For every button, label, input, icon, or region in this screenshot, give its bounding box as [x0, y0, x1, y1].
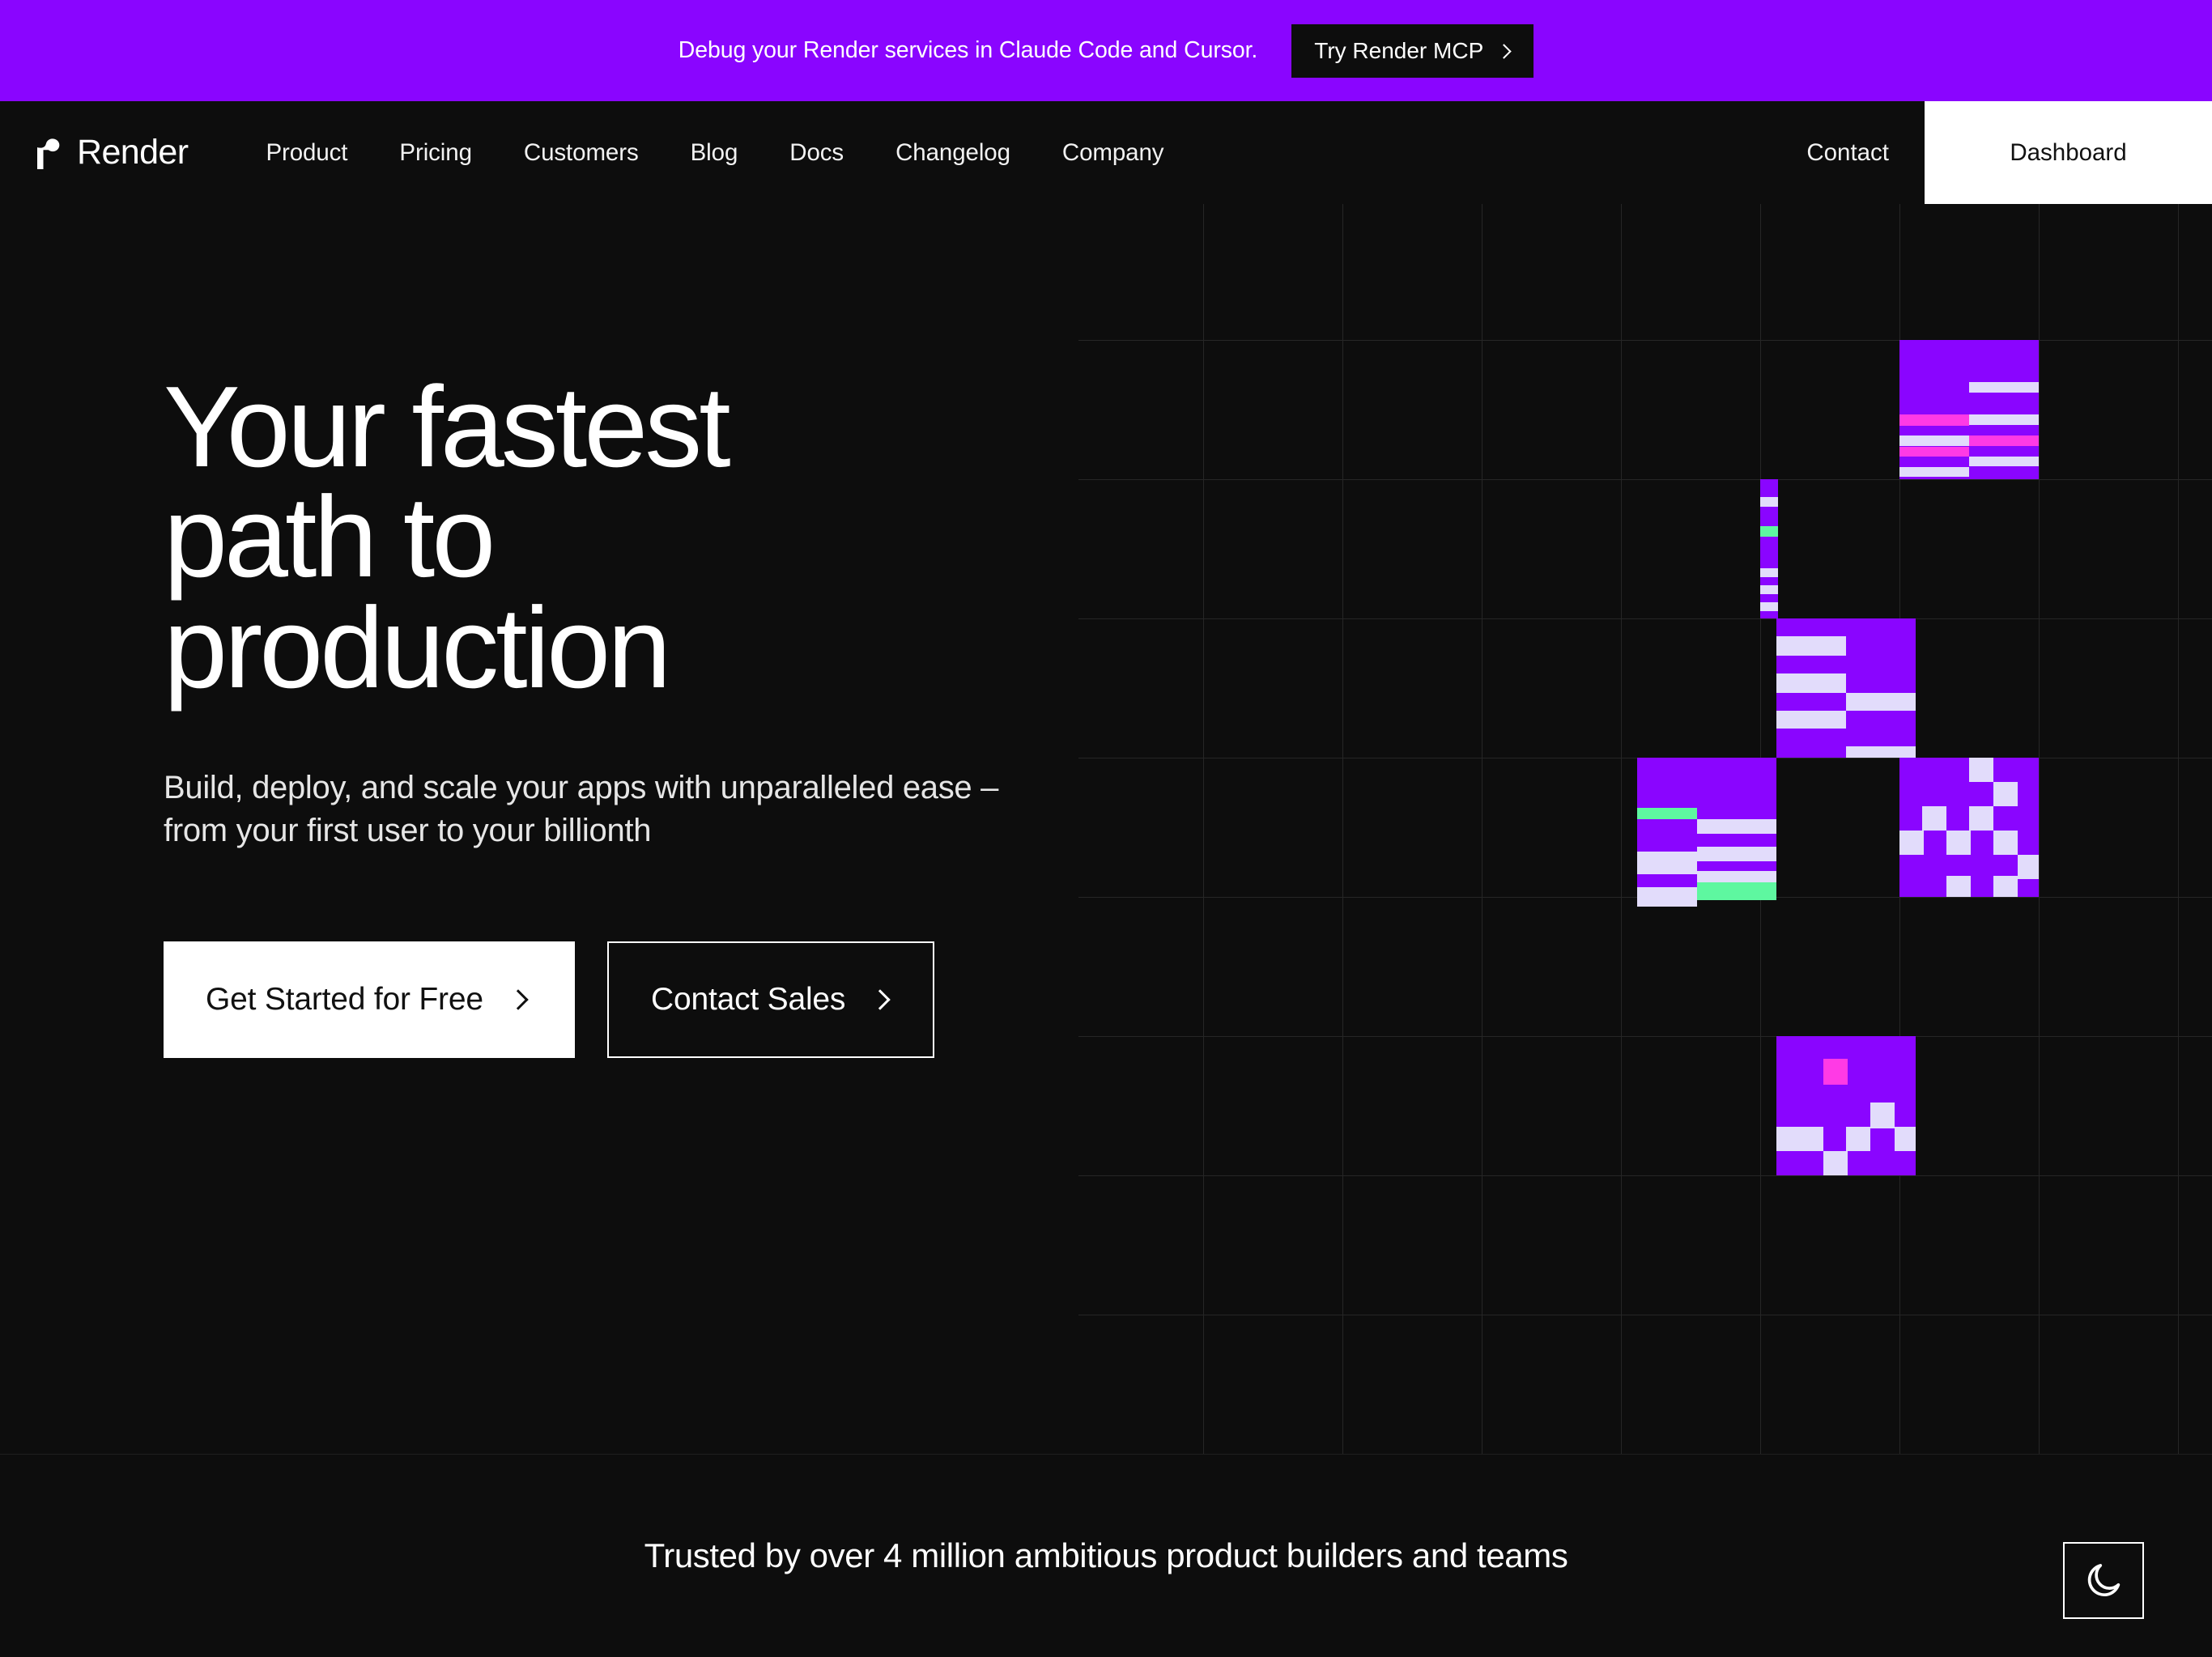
pixel-block-b — [1760, 479, 1778, 618]
chevron-right-icon — [1498, 45, 1511, 57]
chevron-right-icon — [873, 991, 891, 1009]
hero-copy: Your fastest path to production Build, d… — [164, 372, 1176, 1058]
headline-line-1: Your fastest — [164, 372, 1176, 482]
contact-sales-label: Contact Sales — [651, 982, 845, 1018]
headline-line-2: path to — [164, 482, 1176, 593]
main-navigation: Render Product Pricing Customers Blog Do… — [0, 101, 2212, 204]
get-started-label: Get Started for Free — [206, 982, 483, 1018]
hero-section: Your fastest path to production Build, d… — [0, 204, 2212, 1454]
trusted-by-text: Trusted by over 4 million ambitious prod… — [644, 1536, 1568, 1575]
get-started-button[interactable]: Get Started for Free — [164, 941, 575, 1058]
dashboard-button[interactable]: Dashboard — [1925, 101, 2212, 204]
nav-links: Product Pricing Customers Blog Docs Chan… — [259, 133, 1170, 173]
nav-link-product[interactable]: Product — [259, 133, 354, 173]
nav-link-company[interactable]: Company — [1056, 133, 1171, 173]
moon-icon — [2082, 1560, 2125, 1602]
trusted-by-strip: Trusted by over 4 million ambitious prod… — [0, 1454, 2212, 1657]
nav-right-group: Contact Dashboard — [1771, 101, 2212, 204]
nav-link-contact[interactable]: Contact — [1771, 101, 1925, 204]
render-logo[interactable]: Render — [31, 133, 188, 172]
hero-cta-row: Get Started for Free Contact Sales — [164, 941, 1176, 1058]
hero-subheading: Build, deploy, and scale your apps with … — [164, 767, 1159, 852]
pixel-grid-artwork — [1078, 204, 2212, 1454]
pixel-block-a — [1899, 340, 2039, 479]
render-logo-text: Render — [77, 133, 188, 172]
headline-line-3: production — [164, 593, 1176, 703]
subheading-line-1: Build, deploy, and scale your apps with … — [164, 767, 1159, 809]
theme-toggle-button[interactable] — [2063, 1542, 2144, 1619]
chevron-right-icon — [511, 991, 529, 1009]
announcement-text: Debug your Render services in Claude Cod… — [678, 37, 1258, 64]
announcement-banner: Debug your Render services in Claude Cod… — [0, 0, 2212, 101]
nav-link-pricing[interactable]: Pricing — [393, 133, 478, 173]
pixel-block-e — [1899, 758, 2039, 897]
try-render-mcp-label: Try Render MCP — [1314, 38, 1483, 64]
page-title: Your fastest path to production — [164, 372, 1176, 703]
nav-link-changelog[interactable]: Changelog — [889, 133, 1017, 173]
nav-link-docs[interactable]: Docs — [783, 133, 850, 173]
contact-sales-button[interactable]: Contact Sales — [607, 941, 934, 1058]
render-logo-icon — [31, 136, 63, 170]
page-root: Debug your Render services in Claude Cod… — [0, 0, 2212, 1657]
nav-link-customers[interactable]: Customers — [517, 133, 645, 173]
try-render-mcp-button[interactable]: Try Render MCP — [1291, 24, 1534, 78]
subheading-line-2: from your first user to your billionth — [164, 809, 1159, 852]
pixel-block-f — [1776, 1036, 1916, 1175]
pixel-block-c — [1776, 618, 1916, 758]
pixel-block-d — [1637, 758, 1776, 897]
nav-link-blog[interactable]: Blog — [684, 133, 745, 173]
nav-left-group: Render Product Pricing Customers Blog Do… — [0, 101, 1170, 204]
